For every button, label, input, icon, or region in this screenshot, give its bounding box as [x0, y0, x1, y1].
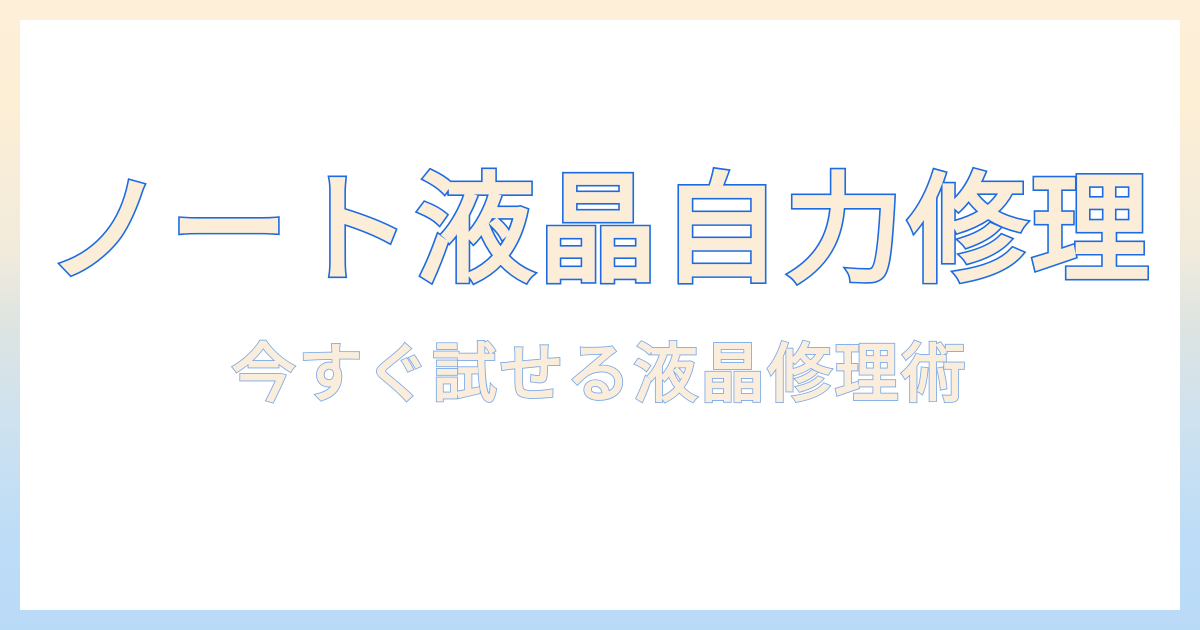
- poster-subtitle: 今すぐ試せる液晶修理術: [232, 343, 969, 407]
- poster-subtitle-container: 今すぐ試せる液晶修理術: [20, 343, 1180, 407]
- poster-frame: ノート液晶自力修理 今すぐ試せる液晶修理術: [0, 0, 1200, 630]
- poster-title-container: ノート液晶自力修理: [20, 172, 1180, 291]
- poster-card: ノート液晶自力修理 今すぐ試せる液晶修理術: [20, 20, 1180, 610]
- poster-text-stack: ノート液晶自力修理 今すぐ試せる液晶修理術: [20, 20, 1180, 610]
- poster-title: ノート液晶自力修理: [47, 172, 1154, 291]
